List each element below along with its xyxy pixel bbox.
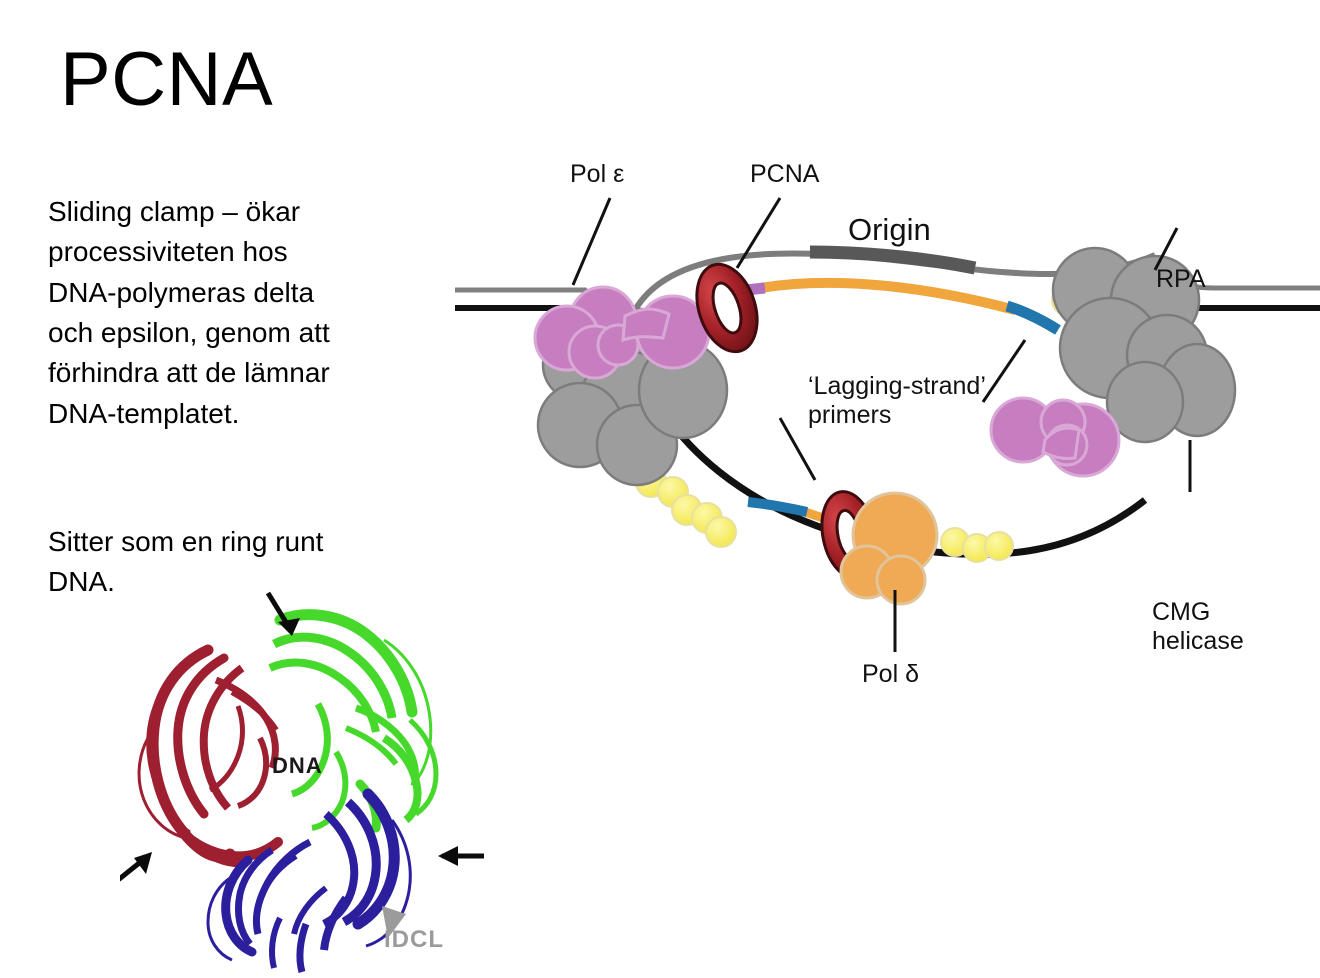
bottom-primer-segment [748, 502, 807, 512]
arrow-left [120, 852, 152, 888]
replication-bubble-diagram: Pol ε PCNA Origin RPA ‘Lagging-strand’ p… [455, 140, 1320, 720]
pol-epsilon-left [535, 287, 709, 378]
page-title: PCNA [60, 42, 273, 118]
label-rpa: RPA [1156, 265, 1206, 294]
pcna-ribbon-structure-image: DNA IDCL [120, 588, 490, 978]
label-pcna: PCNA [750, 160, 819, 189]
arrow-right [438, 846, 484, 866]
label-lagging-strand-primers: ‘Lagging-strand’ primers [808, 372, 986, 430]
label-pol-delta: Pol δ [862, 660, 919, 689]
pcna-subunit-green [270, 615, 436, 828]
ribbon-idcl-label: IDCL [384, 926, 444, 954]
label-pol-epsilon: Pol ε [570, 160, 624, 189]
ribbon-dna-label: DNA [272, 753, 323, 779]
pol-epsilon-right [991, 398, 1119, 476]
slide-canvas: PCNA Sliding clamp – ökar processivitete… [0, 0, 1320, 978]
top-nascent-strand [760, 283, 1015, 310]
label-origin: Origin [848, 212, 931, 248]
leader-pol-epsilon [573, 198, 610, 285]
body-paragraph-1: Sliding clamp – ökar processiviteten hos… [48, 192, 348, 434]
pcna-subunit-red [139, 650, 278, 864]
top-primer-segment [1007, 306, 1058, 330]
origin-segment [810, 252, 975, 268]
leader-lagging [983, 340, 1025, 402]
label-cmg-helicase: CMG helicase [1152, 598, 1244, 656]
